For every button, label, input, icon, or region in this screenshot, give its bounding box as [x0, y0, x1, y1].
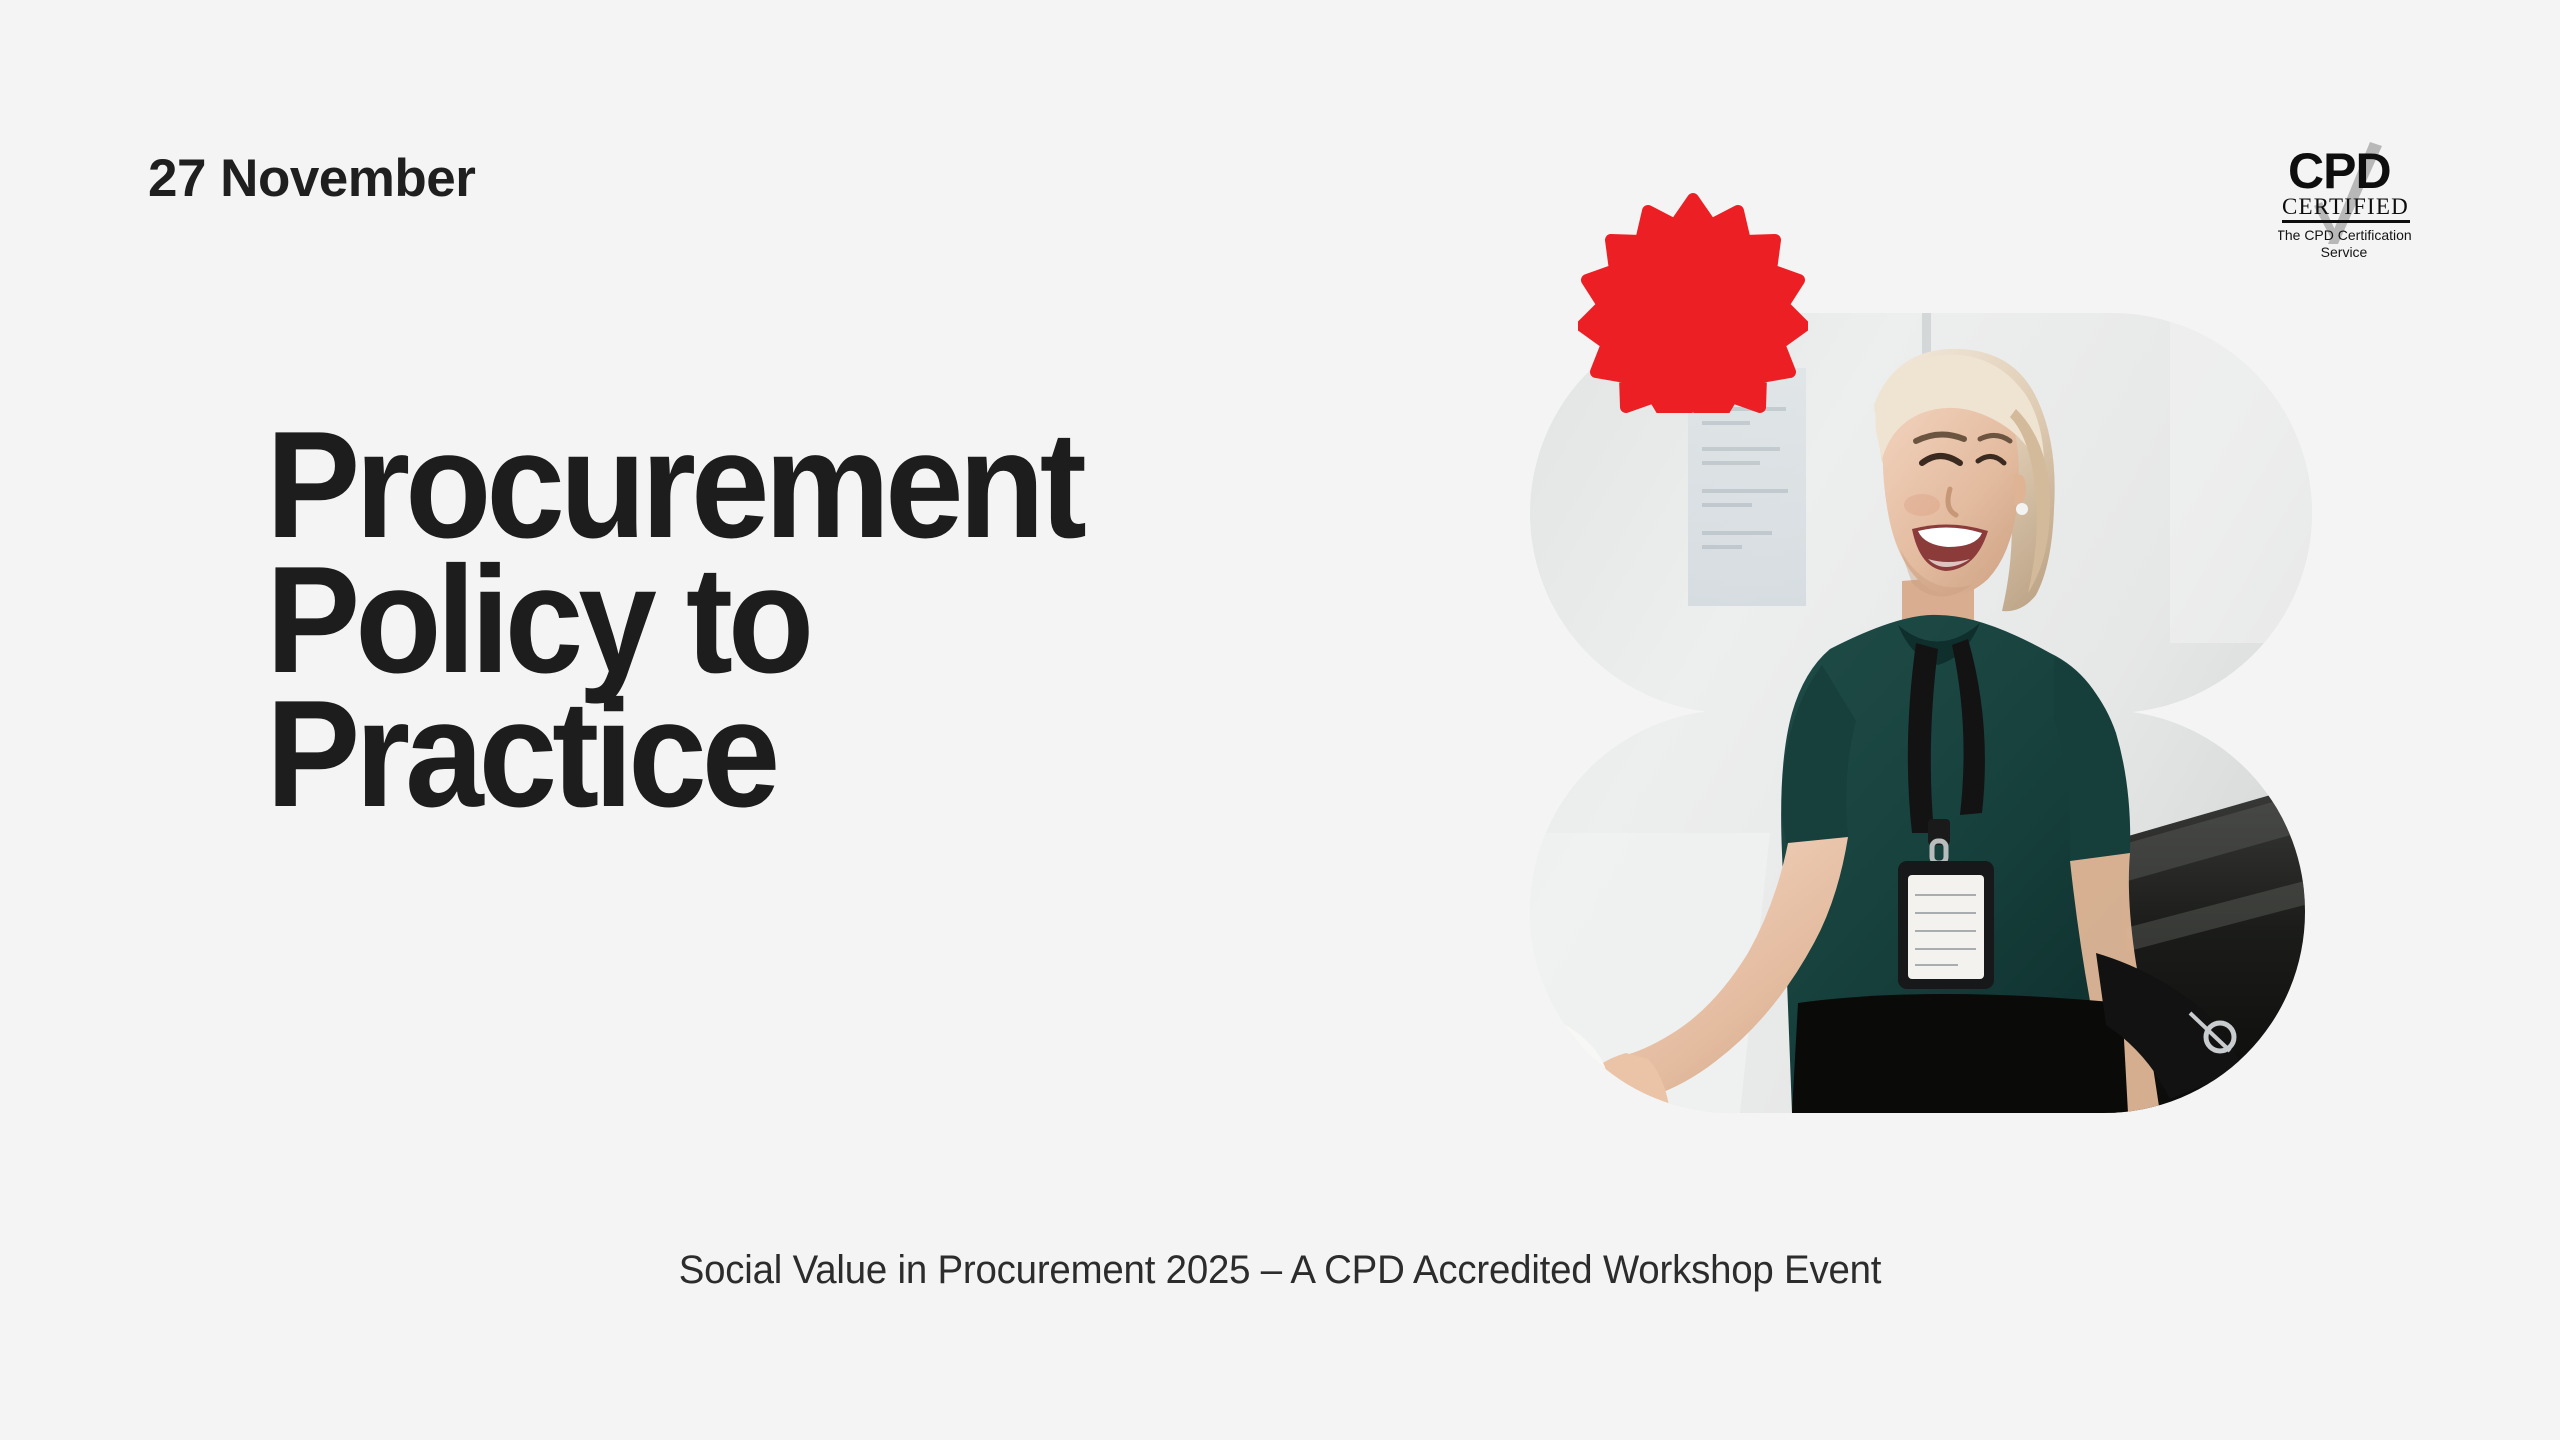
cpd-logo-line2: CERTIFIED [2282, 194, 2409, 219]
cpd-logo-divider [2282, 220, 2410, 223]
event-subtitle: Social Value in Procurement 2025 – A CPD… [51, 1248, 2509, 1293]
starburst-badge [1578, 183, 1808, 413]
headline-line-1: Procurement [266, 418, 1082, 553]
event-date: 27 November [148, 150, 475, 208]
hero-photo [1530, 313, 2312, 1113]
cpd-logo-line4: Service [2321, 244, 2368, 260]
headline-line-3: Practice [266, 687, 1082, 822]
poster-canvas: 27 November [0, 0, 2560, 1440]
cpd-certified-logo: CPD CERTIFIED The CPD Certification Serv… [2278, 140, 2446, 270]
hero-photo-svg [1530, 313, 2312, 1113]
cpd-logo-line1: CPD [2288, 143, 2391, 199]
page-title: Procurement Policy to Practice [266, 418, 1082, 822]
cpd-logo-svg: CPD CERTIFIED The CPD Certification Serv… [2278, 140, 2446, 270]
starburst-icon [1578, 183, 1808, 413]
headline-line-2: Policy to [266, 553, 1082, 688]
cpd-logo-line3: The CPD Certification [2278, 227, 2412, 243]
